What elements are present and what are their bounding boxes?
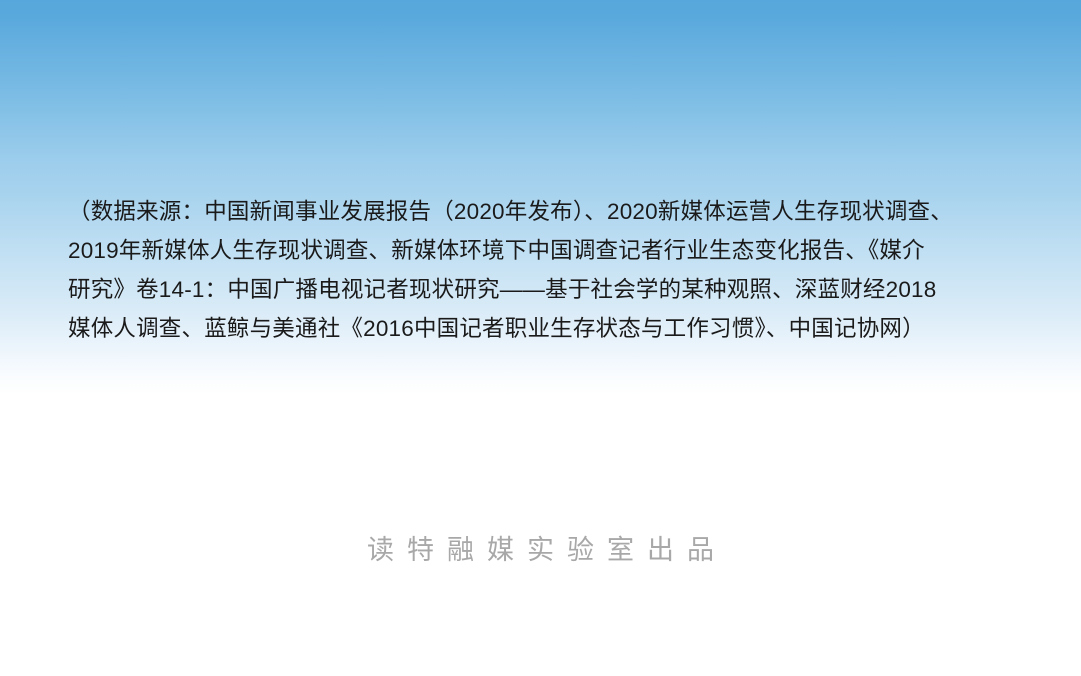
source-note-line-1: （数据来源：中国新闻事业发展报告（2020年发布）、2020新媒体运营人生存现状… [68,192,1020,231]
source-note-line-4: 媒体人调查、蓝鲸与美通社《2016中国记者职业生存状态与工作习惯》、中国记协网） [68,309,1020,348]
poster-canvas: （数据来源：中国新闻事业发展报告（2020年发布）、2020新媒体运营人生存现状… [0,0,1081,676]
footer-credit: 读特融媒实验室出品 [0,528,1081,567]
source-note-line-2: 2019年新媒体人生存现状调查、新媒体环境下中国调查记者行业生态变化报告、《媒介 [68,231,1020,270]
source-note-line-3: 研究》卷14-1：中国广播电视记者现状研究——基于社会学的某种观照、深蓝财经20… [68,270,1020,309]
data-source-note: （数据来源：中国新闻事业发展报告（2020年发布）、2020新媒体运营人生存现状… [68,192,1020,348]
partner-logo-row: SHENZHEN 深圳发布 S 深圳特区报 读特 深圳门户 [0,418,1081,494]
